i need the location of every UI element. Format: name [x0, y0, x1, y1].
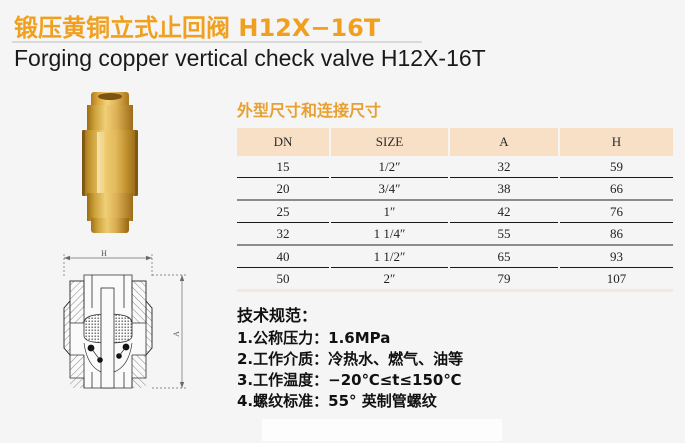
- dimensions-section-heading: 外型尺寸和连接尺寸: [237, 97, 381, 121]
- drawing-dimension-h: H: [101, 249, 107, 258]
- cell-dn: 25: [237, 200, 330, 223]
- cell-h: 93: [559, 245, 673, 268]
- cell-a: 38: [449, 178, 559, 201]
- cell-size: 1″: [330, 200, 449, 223]
- cell-dn: 20: [237, 178, 330, 201]
- title-divider: [12, 41, 422, 43]
- technical-spec-title: 技术规范：: [237, 302, 567, 326]
- cell-dn: 40: [237, 245, 330, 268]
- cell-h: 66: [559, 178, 673, 201]
- table-row: 25 1″ 42 76: [237, 200, 673, 223]
- valve-body-left-edge: [82, 130, 85, 196]
- technical-spec-item-medium: 2.工作介质：冷热水、燃气、油等: [237, 349, 567, 370]
- cell-h: 59: [559, 156, 673, 178]
- valve-bottom-socket: [91, 218, 129, 233]
- technical-spec-item-thread: 4.螺纹标准：55° 英制管螺纹: [237, 391, 567, 412]
- column-header-h: H: [559, 128, 673, 156]
- cell-size: 2″: [330, 268, 449, 291]
- cell-size: 1 1/2″: [330, 245, 449, 268]
- technical-spec-item-temperature: 3.工作温度：−20℃≤t≤150℃: [237, 370, 567, 391]
- table-row: 32 1 1/4″ 55 86: [237, 223, 673, 246]
- cell-h: 86: [559, 223, 673, 246]
- valve-body-highlight: [97, 132, 106, 194]
- cell-dn: 50: [237, 268, 330, 291]
- column-header-a: A: [449, 128, 559, 156]
- valve-illustration: [73, 92, 147, 234]
- cell-size: 3/4″: [330, 178, 449, 201]
- product-photo: [45, 88, 220, 238]
- technical-drawing: H A: [22, 248, 232, 413]
- product-spec-sheet: 锻压黄铜立式止回阀 H12X−16T Forging copper vertic…: [0, 0, 685, 443]
- cell-a: 42: [449, 200, 559, 223]
- cell-a: 65: [449, 245, 559, 268]
- valve-bottom-hex: [87, 193, 133, 221]
- footer-blank-area: [262, 419, 502, 441]
- column-header-size: SIZE: [330, 128, 449, 156]
- dimensions-table: DN SIZE A H 15 1/2″ 32 59 20 3/4″ 38 66 …: [237, 128, 673, 292]
- cell-a: 55: [449, 223, 559, 246]
- table-row: 50 2″ 79 107: [237, 268, 673, 291]
- cell-dn: 15: [237, 156, 330, 178]
- cell-dn: 32: [237, 223, 330, 246]
- page-title-chinese: 锻压黄铜立式止回阀 H12X−16T: [14, 8, 380, 43]
- cell-size: 1/2″: [330, 156, 449, 178]
- table-header-row: DN SIZE A H: [237, 128, 673, 156]
- table-row: 40 1 1/2″ 65 93: [237, 245, 673, 268]
- valve-body: [82, 130, 138, 196]
- column-header-dn: DN: [237, 128, 330, 156]
- page-title-english: Forging copper vertical check valve H12X…: [14, 45, 486, 72]
- technical-specifications: 技术规范： 1.公称压力：1.6MPa 2.工作介质：冷热水、燃气、油等 3.工…: [237, 302, 567, 412]
- cell-h: 107: [559, 268, 673, 291]
- cell-size: 1 1/4″: [330, 223, 449, 246]
- drawing-dimension-a: A: [172, 331, 181, 337]
- table-row: 15 1/2″ 32 59: [237, 156, 673, 178]
- cell-h: 76: [559, 200, 673, 223]
- valve-top-bore: [98, 93, 122, 100]
- valve-body-right-edge: [135, 130, 138, 196]
- cell-a: 32: [449, 156, 559, 178]
- valve-top-hex: [87, 105, 133, 133]
- table-row: 20 3/4″ 38 66: [237, 178, 673, 201]
- technical-spec-item-pressure: 1.公称压力：1.6MPa: [237, 328, 567, 349]
- cell-a: 79: [449, 268, 559, 291]
